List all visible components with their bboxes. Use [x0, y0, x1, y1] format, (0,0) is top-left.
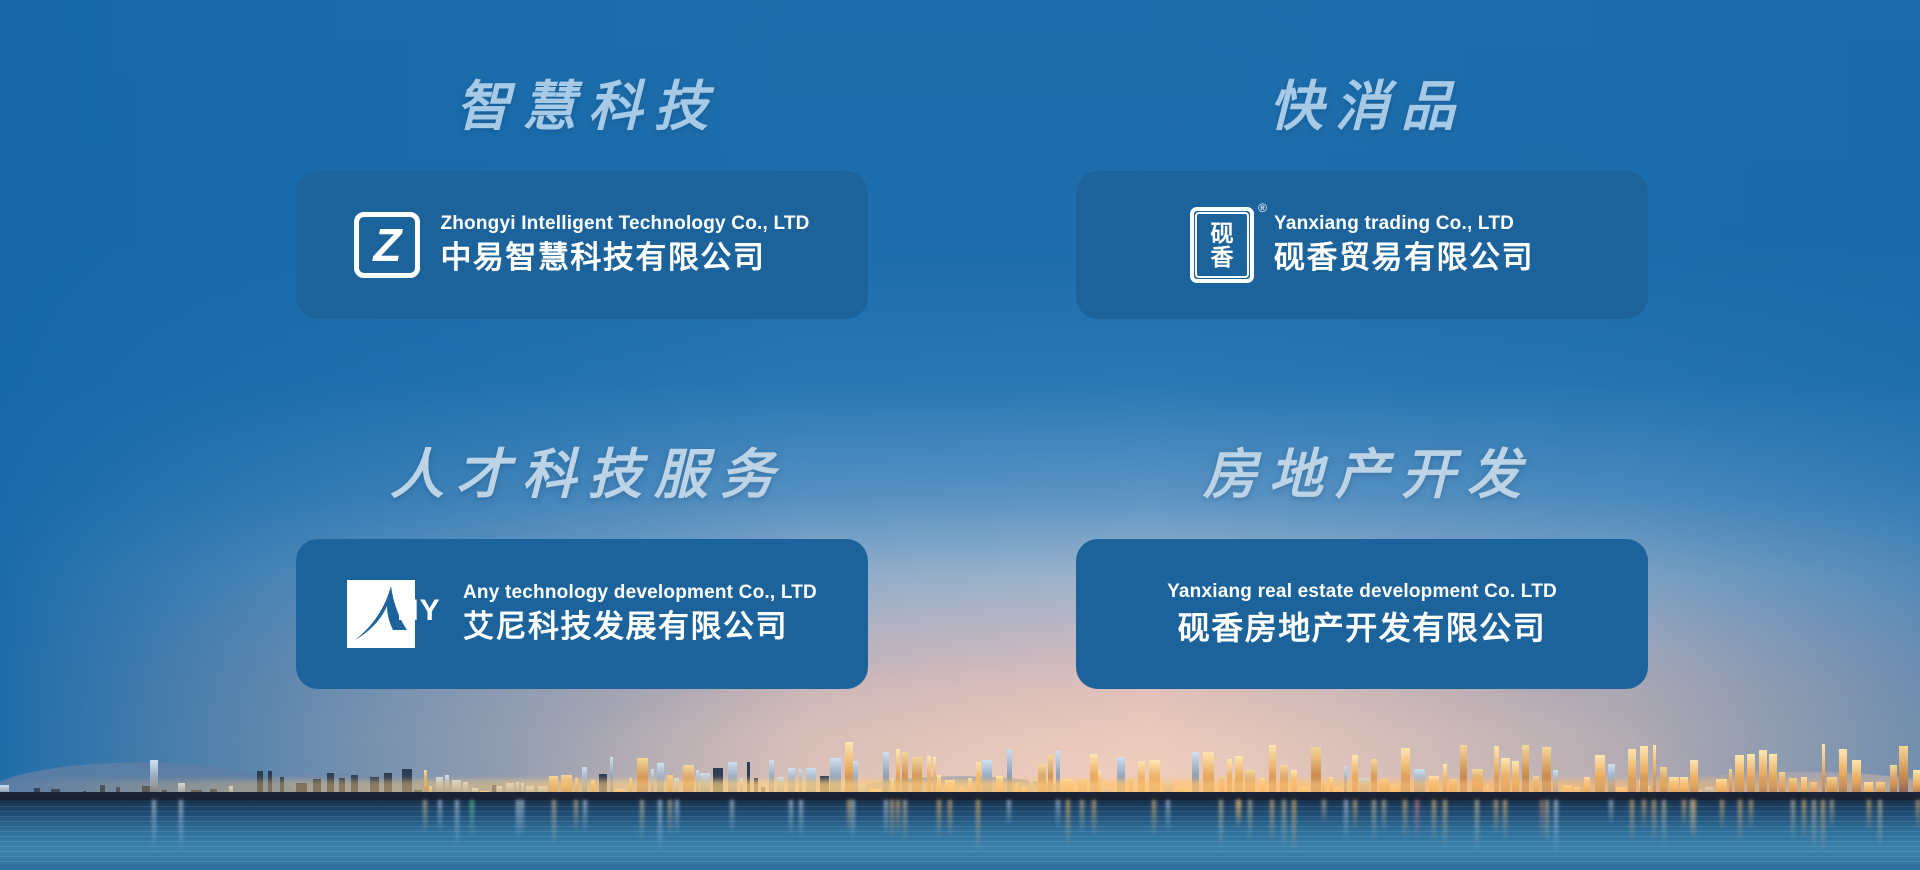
company-card-yanxiang-trading[interactable]: 砚 香 ® Yanxiang trading Co., LTD 砚香贸易有限公司	[1076, 171, 1648, 319]
segment-title: 人才科技服务	[378, 446, 786, 505]
company-name-en: Yanxiang trading Co., LTD	[1274, 213, 1534, 236]
company-name-en: Any technology development Co., LTD	[463, 582, 817, 605]
zhongyi-z-logo: Z	[354, 212, 420, 278]
segments-grid: 智慧科技 Z Zhongyi Intelligent Technology Co…	[0, 0, 1920, 870]
company-name-en: Yanxiang real estate development Co. LTD	[1167, 581, 1557, 604]
logo-letter: Z	[365, 221, 409, 269]
seal-char-top: 砚	[1211, 222, 1234, 245]
segment-fmcg: 快消品 砚 香 ® Yanxiang	[1076, 78, 1648, 394]
segment-real-estate: 房地产开发 Yanxiang real estate development C…	[1076, 424, 1648, 740]
segment-smart-technology: 智慧科技 Z Zhongyi Intelligent Technology Co…	[296, 78, 868, 394]
company-names: Zhongyi Intelligent Technology Co., LTD …	[440, 213, 809, 279]
company-name-cn: 艾尼科技发展有限公司	[463, 608, 817, 647]
company-name-cn: 砚香房地产开发有限公司	[1178, 608, 1547, 648]
page-root: 智慧科技 Z Zhongyi Intelligent Technology Co…	[0, 0, 1920, 870]
company-name-en: Zhongyi Intelligent Technology Co., LTD	[440, 213, 809, 236]
yanxiang-seal-logo: 砚 香 ®	[1190, 207, 1254, 283]
logo-text-ny: NY	[397, 596, 441, 626]
company-names: Yanxiang trading Co., LTD 砚香贸易有限公司	[1274, 213, 1534, 279]
segment-talent-tech-services: 人才科技服务 NY Any technology development Co.…	[296, 424, 868, 740]
seal-char-bottom: 香	[1211, 246, 1234, 269]
registered-trademark-icon: ®	[1258, 202, 1267, 214]
company-card-any[interactable]: NY Any technology development Co., LTD 艾…	[296, 539, 868, 689]
company-card-zhongyi[interactable]: Z Zhongyi Intelligent Technology Co., LT…	[296, 171, 868, 319]
company-names: Any technology development Co., LTD 艾尼科技…	[463, 582, 817, 648]
company-names: Yanxiang real estate development Co. LTD…	[1167, 581, 1557, 648]
company-name-cn: 中易智慧科技有限公司	[440, 239, 809, 278]
seal-inner: 砚 香	[1195, 212, 1249, 278]
company-card-yanxiang-real-estate[interactable]: Yanxiang real estate development Co. LTD…	[1076, 539, 1648, 689]
segment-title: 房地产开发	[1191, 446, 1533, 505]
segment-title: 快消品	[1257, 78, 1467, 137]
segment-title: 智慧科技	[444, 78, 720, 137]
any-mountain-logo: NY	[347, 580, 443, 648]
company-name-cn: 砚香贸易有限公司	[1274, 239, 1534, 278]
